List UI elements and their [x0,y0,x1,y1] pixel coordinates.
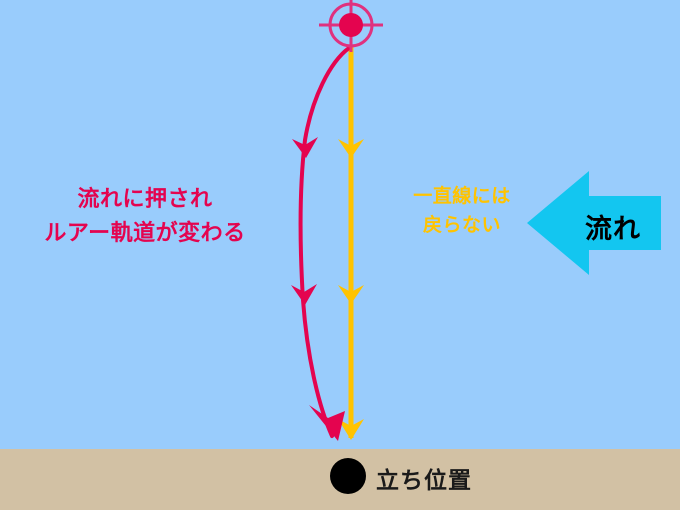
straight-annotation-line1: 一直線には [382,182,542,211]
drift-annotation-label: 流れに押され ルアー軌道が変わる [30,182,260,250]
crosshair-target-icon [319,0,383,52]
drifted-lure-path [291,48,349,441]
stand-position-label: 立ち位置 [376,461,472,495]
drift-annotation-line1: 流れに押され [30,182,260,216]
diagram-vector-layer [0,0,680,510]
current-arrow-label: 流れ [574,207,652,246]
drift-annotation-line2: ルアー軌道が変わる [30,216,260,250]
straight-annotation-label: 一直線には 戻らない [382,182,542,241]
straight-line-path [338,46,364,440]
straight-annotation-line2: 戻らない [382,211,542,240]
stand-position-marker [330,458,366,494]
fishing-current-diagram: 流れに押され ルアー軌道が変わる 一直線には 戻らない 流れ 立ち位置 [0,0,680,510]
